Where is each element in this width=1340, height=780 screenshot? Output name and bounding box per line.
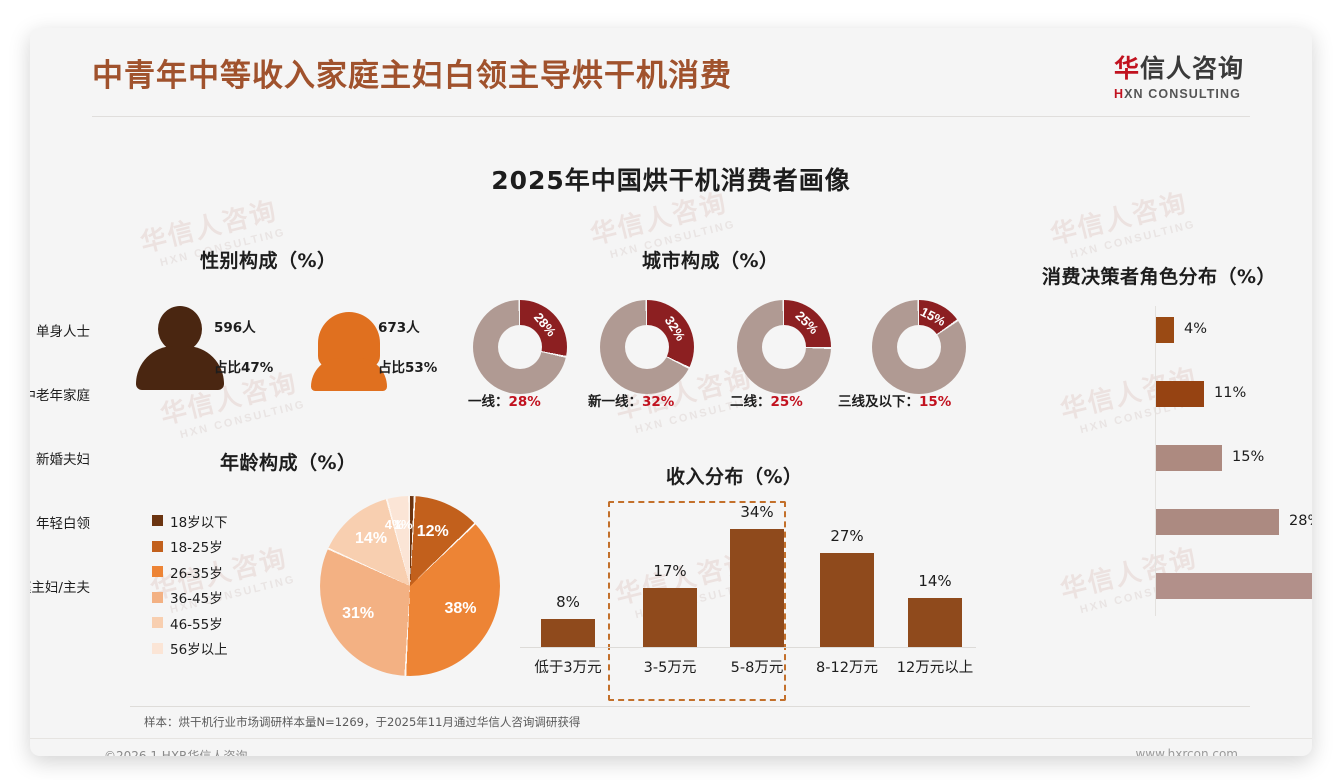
income-bar — [908, 598, 962, 647]
website-link[interactable]: www.hxrcon.com — [1135, 747, 1238, 756]
brand-logo-cn-first: 华 — [1114, 55, 1140, 83]
legend-label: 18-25岁 — [170, 536, 223, 556]
income-bar-value: 17% — [630, 562, 710, 580]
role-bar — [1156, 573, 1312, 599]
brand-logo-cn-rest: 信人咨询 — [1140, 55, 1244, 83]
role-bar-value: 28% — [1289, 513, 1312, 529]
page-title: 2025年中国烘干机消费者画像 — [30, 161, 1312, 197]
legend-label: 56岁以上 — [170, 638, 228, 658]
role-bar-value: 4% — [1184, 321, 1207, 337]
watermark-en: HXN CONSULTING — [1069, 218, 1197, 261]
city-label-tier1: 一线：28% — [468, 390, 541, 410]
income-bar — [820, 553, 874, 647]
role-category: 家庭主妇/主夫 — [30, 576, 90, 596]
role-bar-value: 11% — [1214, 385, 1246, 401]
income-bar-category: 低于3万元 — [513, 656, 623, 677]
city-donut-tier1: 28% — [473, 300, 567, 394]
legend-label: 26-35岁 — [170, 562, 223, 582]
pie-label: 12% — [417, 523, 449, 541]
legend-item: 26-35岁 — [152, 559, 228, 585]
sample-note: 样本：烘干机行业市场调研样本量N=1269，于2025年11月通过华信人咨询调研… — [144, 714, 580, 730]
report-card: 华信人咨询 HXN CONSULTING 华信人咨询 HXN CONSULTIN… — [30, 28, 1312, 756]
pie-label: 31% — [342, 605, 374, 623]
brand-logo-en-mark: H — [1114, 87, 1124, 101]
role-bar — [1156, 381, 1204, 407]
income-bar-category: 12万元以上 — [880, 656, 990, 677]
income-bar-value: 14% — [895, 572, 975, 590]
city-label-tier2: 二线：25% — [730, 390, 803, 410]
age-legend: 18岁以下 18-25岁 26-35岁 36-45岁 46-55岁 56岁以上 — [152, 508, 228, 661]
legend-item: 18岁以下 — [152, 508, 228, 534]
legend-label: 46-55岁 — [170, 613, 223, 633]
pie-label: 1% — [394, 517, 413, 532]
legend-item: 36-45岁 — [152, 585, 228, 611]
income-bar — [643, 588, 697, 647]
income-bar-value: 34% — [717, 503, 797, 521]
legend-swatch — [152, 566, 163, 577]
brand-logo-cn: 华信人咨询 — [1114, 56, 1244, 84]
role-bar-value: 15% — [1232, 449, 1264, 465]
role-category: 单身人士 — [30, 320, 90, 340]
age-section-title: 年龄构成（%） — [220, 448, 357, 475]
header-divider — [92, 116, 1250, 117]
brand-logo-en-rest: XN CONSULTING — [1124, 87, 1241, 101]
legend-swatch — [152, 617, 163, 628]
income-bar — [541, 619, 595, 647]
male-person-icon — [136, 306, 224, 390]
legend-swatch — [152, 541, 163, 552]
note-divider — [130, 706, 1250, 707]
role-section-title: 消费决策者角色分布（%） — [1042, 262, 1276, 289]
city-label-newtier1: 新一线：32% — [588, 390, 674, 410]
copyright-text: ©2026.1 HXR华信人咨询 — [104, 747, 247, 756]
page-headline: 中青年中等收入家庭主妇白领主导烘干机消费 — [92, 50, 732, 95]
footer-divider — [30, 738, 1312, 739]
female-count: 673人 — [378, 316, 420, 336]
header: 中青年中等收入家庭主妇白领主导烘干机消费 华信人咨询 HXN CONSULTIN… — [30, 28, 1312, 124]
female-share: 占比53% — [378, 356, 437, 376]
age-pie-chart: 12% 38% 31% 14% 4% 1% — [320, 496, 500, 676]
legend-swatch — [152, 515, 163, 526]
role-category: 年轻白领 — [30, 512, 90, 532]
income-baseline — [520, 647, 976, 648]
legend-item: 18-25岁 — [152, 534, 228, 560]
gender-section-title: 性别构成（%） — [200, 246, 337, 273]
legend-swatch — [152, 643, 163, 654]
male-count: 596人 — [214, 316, 256, 336]
city-label-tier3: 三线及以下：15% — [838, 390, 951, 410]
income-section-title: 收入分布（%） — [666, 462, 803, 489]
legend-label: 36-45岁 — [170, 587, 223, 607]
role-bar — [1156, 445, 1222, 471]
role-bar — [1156, 317, 1174, 343]
role-bar — [1156, 509, 1279, 535]
watermark-en: HXN CONSULTING — [179, 398, 307, 441]
pie-label: 14% — [355, 530, 387, 548]
income-bar-value: 27% — [807, 527, 887, 545]
city-donut-newtier1: 32% — [600, 300, 694, 394]
income-bar — [730, 529, 784, 647]
income-bar-value: 8% — [528, 593, 608, 611]
pie-label: 38% — [444, 600, 476, 618]
role-category: 中老年家庭 — [30, 384, 90, 404]
legend-swatch — [152, 592, 163, 603]
legend-item: 46-55岁 — [152, 610, 228, 636]
city-section-title: 城市构成（%） — [642, 246, 779, 273]
brand-logo-en: HXN CONSULTING — [1114, 87, 1244, 101]
male-share: 占比47% — [214, 356, 273, 376]
brand-logo: 华信人咨询 HXN CONSULTING — [1114, 56, 1244, 101]
legend-item: 56岁以上 — [152, 636, 228, 662]
role-category: 新婚夫妇 — [30, 448, 90, 468]
city-donut-tier2: 25% — [737, 300, 831, 394]
legend-label: 18岁以下 — [170, 511, 228, 531]
city-donut-tier3: 15% — [872, 300, 966, 394]
